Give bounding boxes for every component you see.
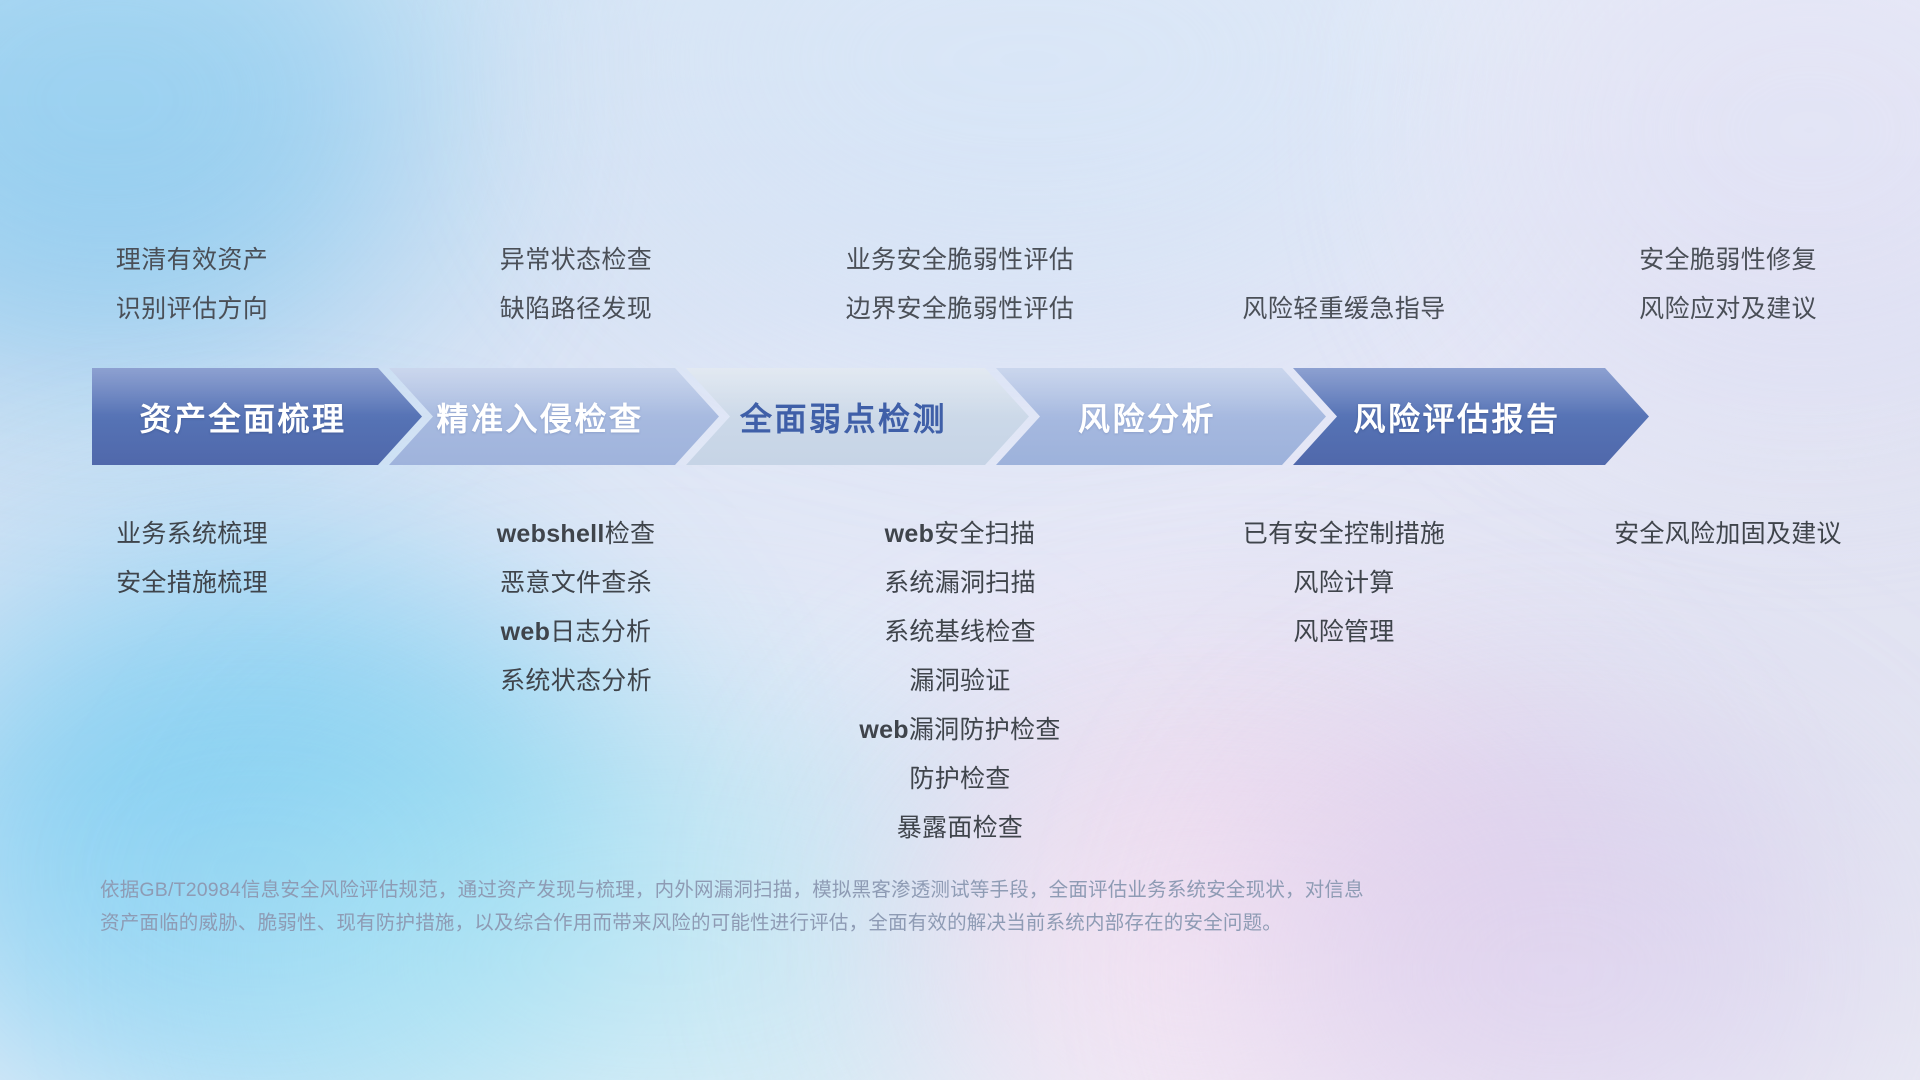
- stage-chevron-intrusion-check[interactable]: 精准入侵检查: [389, 368, 719, 465]
- top-caption-line: 缺陷路径发现: [500, 285, 652, 334]
- items-intrusion-check: webshell检查 恶意文件查杀 web日志分析 系统状态分析: [384, 510, 768, 853]
- top-caption-line: 边界安全脆弱性评估: [846, 285, 1075, 334]
- process-chevron-band: 资产全面梳理 精准入侵检查 全面弱点检测 风险分析 风险评估报告: [92, 368, 1862, 465]
- list-item: 恶意文件查杀: [500, 559, 652, 608]
- top-caption-line: 异常状态检查: [500, 236, 652, 285]
- stage-title: 风险评估报告: [1353, 394, 1560, 440]
- items-risk-report: 安全风险加固及建议: [1536, 510, 1920, 853]
- bottom-items-row: 业务系统梳理 安全措施梳理 webshell检查 恶意文件查杀 web日志分析 …: [0, 510, 1920, 853]
- stage-title: 资产全面梳理: [139, 394, 346, 440]
- diagram-stage: 理清有效资产 识别评估方向 异常状态检查 缺陷路径发现 业务安全脆弱性评估 边界…: [0, 0, 1920, 1080]
- stage-chevron-risk-report[interactable]: 风险评估报告: [1293, 368, 1649, 465]
- top-captions-row: 理清有效资产 识别评估方向 异常状态检查 缺陷路径发现 业务安全脆弱性评估 边界…: [0, 236, 1920, 334]
- stage-title: 精准入侵检查: [436, 394, 643, 440]
- list-item: 风险计算: [1293, 559, 1394, 608]
- items-asset-inventory: 业务系统梳理 安全措施梳理: [0, 510, 384, 853]
- footer-line-1: 依据GB/T20984信息安全风险评估规范，通过资产发现与梳理，内外网漏洞扫描，…: [100, 874, 1620, 907]
- top-captions-asset-inventory: 理清有效资产 识别评估方向: [0, 236, 384, 334]
- footer-description: 依据GB/T20984信息安全风险评估规范，通过资产发现与梳理，内外网漏洞扫描，…: [100, 874, 1620, 940]
- list-item: web漏洞防护检查: [859, 706, 1060, 755]
- list-item: 已有安全控制措施: [1243, 510, 1445, 559]
- top-caption-line: 理清有效资产: [116, 236, 268, 285]
- list-item: 漏洞验证: [909, 657, 1010, 706]
- list-item: 系统漏洞扫描: [884, 559, 1036, 608]
- items-weakness-detection: web安全扫描 系统漏洞扫描 系统基线检查 漏洞验证 web漏洞防护检查 防护检…: [768, 510, 1152, 853]
- stage-title: 全面弱点检测: [740, 394, 947, 440]
- stage-title: 风险分析: [1078, 394, 1216, 440]
- list-item: 系统基线检查: [884, 608, 1036, 657]
- top-captions-intrusion-check: 异常状态检查 缺陷路径发现: [384, 236, 768, 334]
- stage-chevron-weakness-detection[interactable]: 全面弱点检测: [686, 368, 1029, 465]
- top-caption-line: 业务安全脆弱性评估: [846, 236, 1075, 285]
- top-captions-weakness-detection: 业务安全脆弱性评估 边界安全脆弱性评估: [768, 236, 1152, 334]
- list-item: 安全措施梳理: [116, 559, 268, 608]
- list-item: 暴露面检查: [897, 804, 1024, 853]
- list-item: 系统状态分析: [500, 657, 652, 706]
- top-caption-line: 识别评估方向: [116, 285, 268, 334]
- top-caption-line: 安全脆弱性修复: [1639, 236, 1817, 285]
- footer-line-2: 资产面临的威胁、脆弱性、现有防护措施，以及综合作用而带来风险的可能性进行评估，全…: [100, 907, 1620, 940]
- list-item: web安全扫描: [885, 510, 1036, 559]
- list-item: 防护检查: [909, 755, 1010, 804]
- top-caption-line: 风险应对及建议: [1639, 285, 1817, 334]
- items-risk-analysis: 已有安全控制措施 风险计算 风险管理: [1152, 510, 1536, 853]
- stage-chevron-risk-analysis[interactable]: 风险分析: [996, 368, 1326, 465]
- list-item: 风险管理: [1293, 608, 1394, 657]
- top-caption-line: 风险轻重缓急指导: [1242, 285, 1445, 334]
- list-item: webshell检查: [497, 510, 656, 559]
- list-item: 业务系统梳理: [116, 510, 268, 559]
- stage-chevron-asset-inventory[interactable]: 资产全面梳理: [92, 368, 422, 465]
- top-captions-risk-report: 安全脆弱性修复 风险应对及建议: [1536, 236, 1920, 334]
- list-item: 安全风险加固及建议: [1614, 510, 1842, 559]
- top-captions-risk-analysis: 风险轻重缓急指导: [1152, 236, 1536, 334]
- list-item: web日志分析: [501, 608, 652, 657]
